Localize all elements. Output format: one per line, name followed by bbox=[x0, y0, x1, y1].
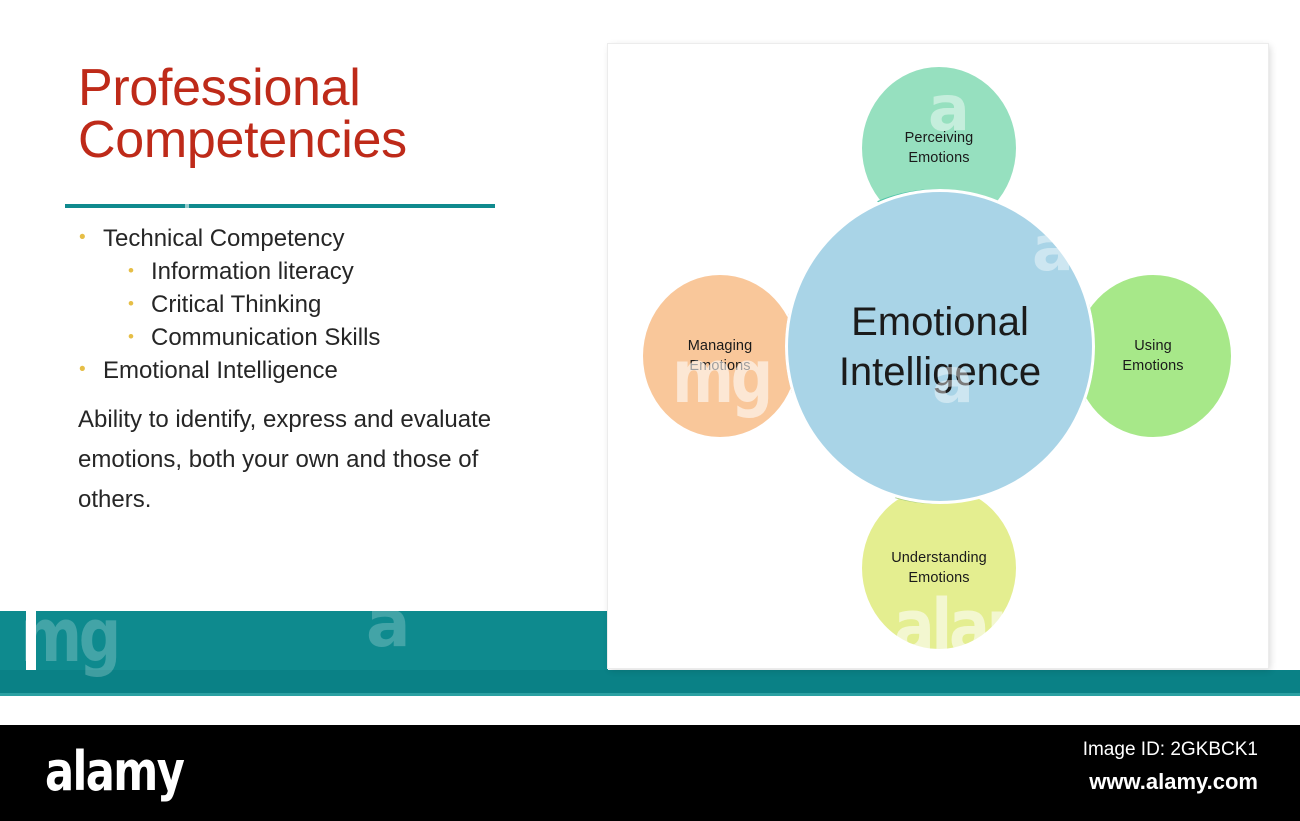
bullet-label: Emotional Intelligence bbox=[103, 357, 338, 384]
overlap-understanding-center bbox=[859, 484, 1019, 652]
page-title-line-1: Professional bbox=[78, 62, 518, 114]
page-title-line-2: Competencies bbox=[78, 114, 518, 166]
bullet-label: Technical Competency bbox=[103, 225, 344, 252]
list-item-technical-competency: Technical Competency Information literac… bbox=[75, 222, 545, 354]
slide-canvas: Professional Competencies Technical Comp… bbox=[0, 0, 1300, 710]
emotional-intelligence-definition: Ability to identify, express and evaluat… bbox=[78, 400, 510, 520]
alamy-image-id: Image ID: 2GKBCK1 bbox=[1083, 739, 1258, 761]
diagram-center-emotional-intelligence: Emotional Intelligence bbox=[785, 189, 1095, 504]
footer-bottom-strip bbox=[0, 670, 1300, 695]
technical-competency-sublist: Information literacy Critical Thinking C… bbox=[103, 255, 545, 354]
alamy-logo: alamy bbox=[45, 743, 183, 801]
emotional-intelligence-diagram: Perceiving Emotions Managing Emotions Us… bbox=[608, 44, 1268, 668]
center-label-line-1: Emotional bbox=[839, 297, 1041, 347]
overlap-using-center bbox=[1072, 272, 1234, 440]
page-title: Professional Competencies bbox=[78, 62, 518, 166]
slide-left-column: Professional Competencies Technical Comp… bbox=[0, 0, 600, 710]
bullet-label: Critical Thinking bbox=[151, 291, 321, 318]
bullet-label: Communication Skills bbox=[151, 324, 380, 351]
bullet-label: Information literacy bbox=[151, 258, 354, 285]
list-item-critical-thinking: Critical Thinking bbox=[123, 288, 545, 321]
footer-bottom-strip-edge bbox=[0, 693, 1300, 696]
overlap-managing-center bbox=[640, 272, 800, 440]
competency-bullet-list: Technical Competency Information literac… bbox=[75, 222, 545, 387]
list-item-communication-skills: Communication Skills bbox=[123, 321, 545, 354]
list-item-emotional-intelligence: Emotional Intelligence bbox=[75, 354, 545, 387]
alamy-watermark-bar: alamy Image ID: 2GKBCK1 www.alamy.com bbox=[0, 725, 1300, 821]
center-label: Emotional Intelligence bbox=[839, 297, 1041, 397]
center-label-line-2: Intelligence bbox=[839, 347, 1041, 397]
list-item-information-literacy: Information literacy bbox=[123, 255, 545, 288]
title-divider-rule bbox=[65, 204, 495, 208]
alamy-url[interactable]: www.alamy.com bbox=[1089, 769, 1258, 795]
